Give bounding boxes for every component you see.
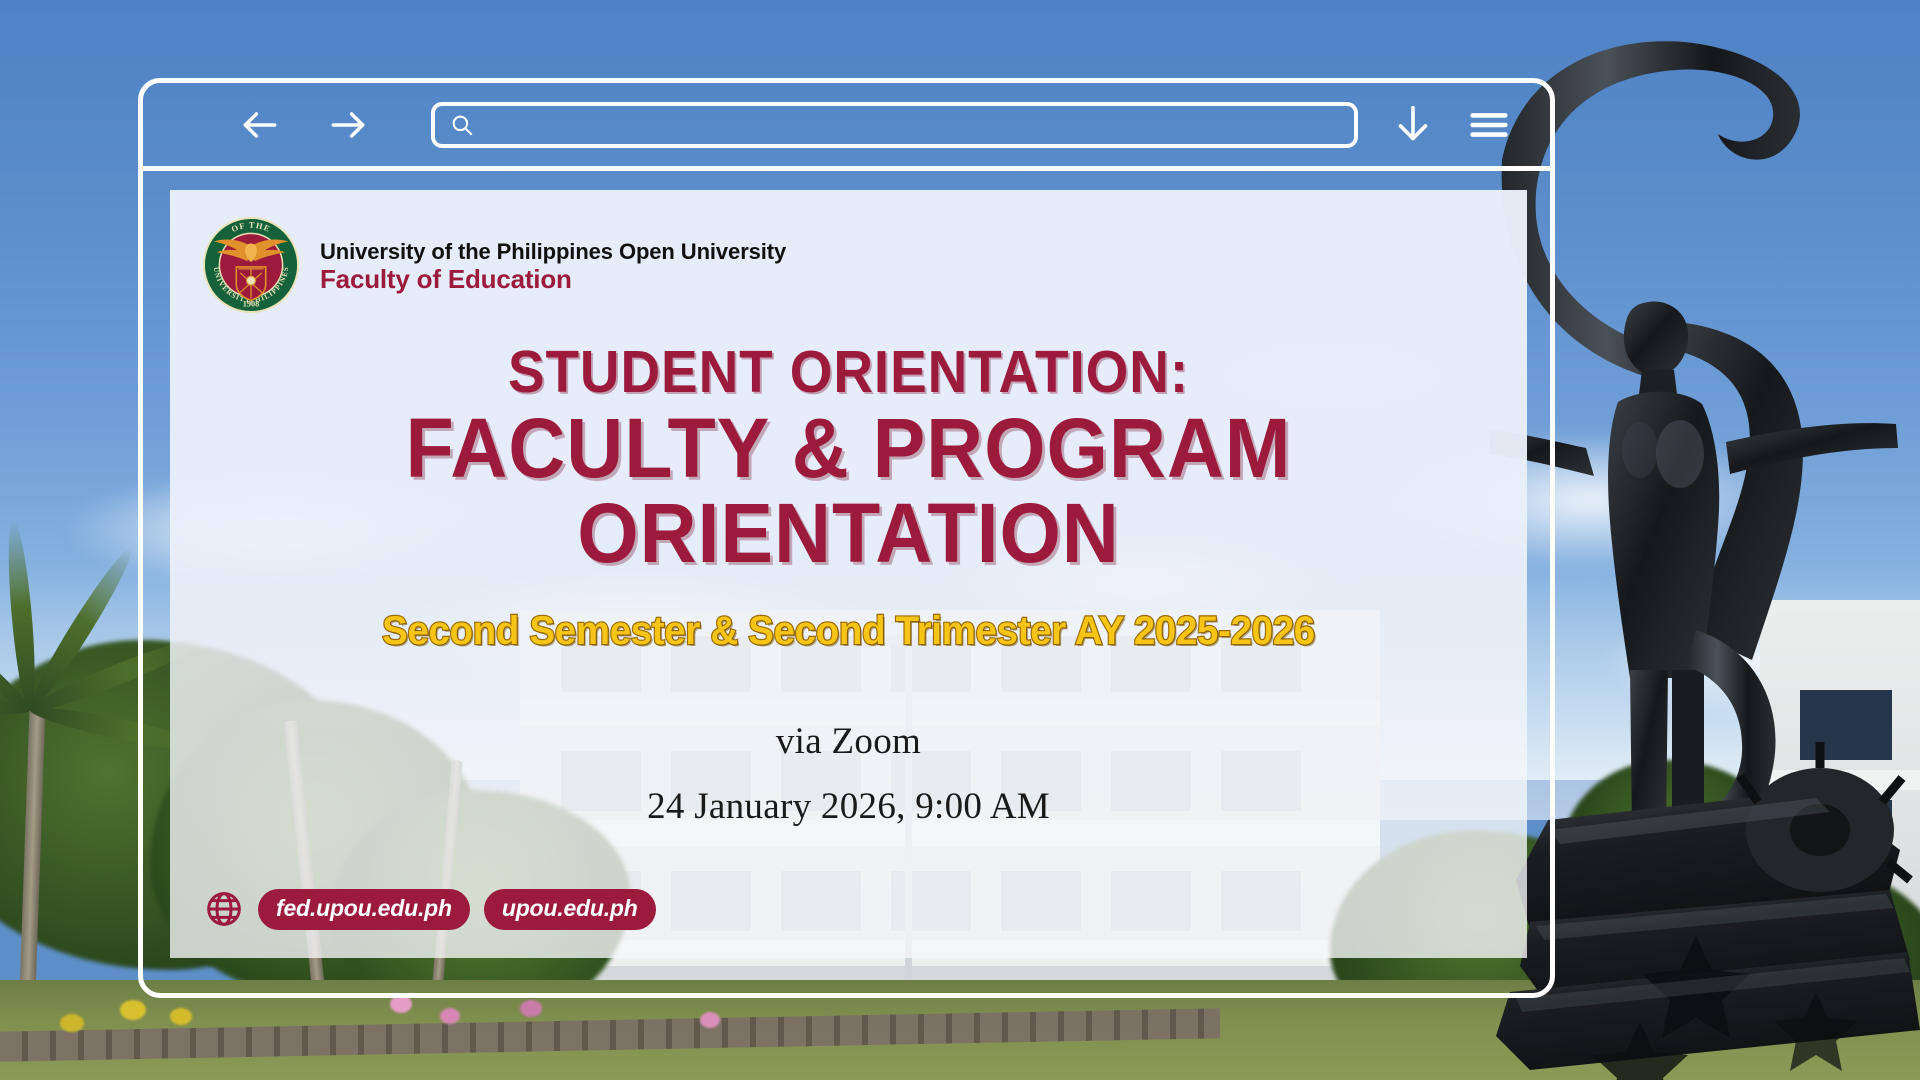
- flower: [700, 1012, 720, 1028]
- forward-button[interactable]: [321, 98, 375, 152]
- upou-logo-lockup: OF THE UNIVERSITY PHILIPPINES 1908: [202, 216, 786, 314]
- hamburger-menu-icon: [1466, 102, 1512, 148]
- title-line-2: FACULTY & PROGRAM: [211, 406, 1487, 491]
- poster-content-panel: OF THE UNIVERSITY PHILIPPINES 1908: [170, 190, 1527, 958]
- flower: [440, 1008, 460, 1024]
- back-button[interactable]: [233, 98, 287, 152]
- poster-title-block: STUDENT ORIENTATION: FACULTY & PROGRAM O…: [170, 342, 1527, 576]
- download-arrow-icon: [1390, 102, 1436, 148]
- event-datetime: 24 January 2026, 9:00 AM: [170, 785, 1527, 828]
- flower: [170, 1008, 192, 1025]
- flower: [120, 1000, 146, 1020]
- organization-name: University of the Philippines Open Unive…: [320, 239, 786, 264]
- title-line-3: ORIENTATION: [211, 491, 1487, 576]
- logo-text-block: University of the Philippines Open Unive…: [320, 235, 786, 295]
- menu-button[interactable]: [1462, 98, 1516, 152]
- up-seal-icon: OF THE UNIVERSITY PHILIPPINES 1908: [202, 216, 300, 314]
- search-icon: [449, 112, 475, 138]
- event-platform: via Zoom: [170, 720, 1527, 763]
- arrow-right-icon: [326, 103, 370, 147]
- poster-subtitle: Second Semester & Second Trimester AY 20…: [197, 609, 1500, 654]
- browser-toolbar: [143, 83, 1550, 171]
- globe-icon: [204, 889, 244, 929]
- download-button[interactable]: [1386, 98, 1440, 152]
- address-bar[interactable]: [431, 102, 1358, 148]
- link-pill-upou[interactable]: upou.edu.ph: [484, 889, 656, 930]
- link-pill-fed[interactable]: fed.upou.edu.ph: [258, 889, 470, 930]
- title-line-1: STUDENT ORIENTATION:: [217, 342, 1479, 402]
- arrow-left-icon: [238, 103, 282, 147]
- unit-name: Faculty of Education: [320, 265, 786, 295]
- flower: [520, 1000, 542, 1017]
- website-links: fed.upou.edu.ph upou.edu.ph: [204, 889, 656, 930]
- flower: [60, 1014, 84, 1032]
